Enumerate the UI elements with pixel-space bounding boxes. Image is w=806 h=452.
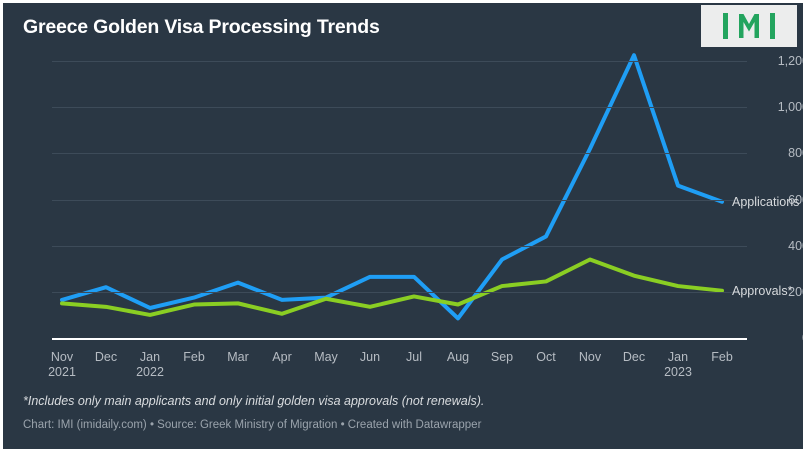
x-tick-month: Dec: [623, 350, 645, 364]
x-tick-month: Mar: [227, 350, 249, 364]
y-axis-tick-label: 1,200: [765, 54, 806, 68]
x-tick-year: 2022: [136, 365, 164, 380]
series-label-applications: Applications: [732, 195, 799, 209]
x-axis-tick-label: Dec: [95, 350, 117, 365]
x-axis-tick-label: Nov: [579, 350, 601, 365]
x-tick-month: Jun: [360, 350, 380, 364]
x-tick-month: Dec: [95, 350, 117, 364]
x-axis-tick-label: May: [314, 350, 338, 365]
x-axis-tick-label: Apr: [272, 350, 291, 365]
imi-logo: [701, 5, 797, 47]
x-axis-tick-label: Nov2021: [48, 350, 76, 379]
x-axis-tick-label: Jun: [360, 350, 380, 365]
y-axis-tick-label: 400: [765, 239, 806, 253]
x-tick-month: Nov: [51, 350, 73, 364]
x-tick-month: Jul: [406, 350, 422, 364]
logo-letter-m: [737, 13, 761, 39]
logo-bar-left: [723, 13, 728, 39]
x-tick-month: Oct: [536, 350, 555, 364]
x-tick-year: 2021: [48, 365, 76, 380]
chart-plot-area: 02004006008001,0001,200 ApplicationsAppr…: [3, 49, 806, 349]
x-tick-month: Jan: [140, 350, 160, 364]
gridline: [52, 153, 747, 154]
x-axis-tick-label: Aug: [447, 350, 469, 365]
gridline: [52, 107, 747, 108]
page-title: Greece Golden Visa Processing Trends: [23, 16, 380, 39]
x-axis-tick-label: Feb: [711, 350, 733, 365]
gridline: [52, 246, 747, 247]
logo-bar-right: [770, 13, 775, 39]
x-axis-tick-label: Mar: [227, 350, 249, 365]
x-tick-month: Feb: [711, 350, 733, 364]
x-tick-month: Feb: [183, 350, 205, 364]
chart-credit: Chart: IMI (imidaily.com) • Source: Gree…: [23, 419, 481, 431]
chart-card: Greece Golden Visa Processing Trends 020…: [0, 0, 806, 452]
x-tick-month: Nov: [579, 350, 601, 364]
x-tick-month: Sep: [491, 350, 513, 364]
gridline: [52, 292, 747, 293]
gridline: [52, 61, 747, 62]
x-tick-month: May: [314, 350, 338, 364]
series-label-approvals: Approvals*: [732, 284, 792, 298]
x-axis-tick-label: Dec: [623, 350, 645, 365]
y-axis-tick-label: 800: [765, 146, 806, 160]
x-axis-tick-label: Jan2022: [136, 350, 164, 379]
x-tick-month: Apr: [272, 350, 291, 364]
y-axis-tick-label: 0: [765, 331, 806, 345]
chart-footnote: *Includes only main applicants and only …: [23, 394, 484, 408]
x-axis-tick-label: Jan2023: [664, 350, 692, 379]
x-axis-labels: Nov2021DecJan2022FebMarAprMayJunJulAugSe…: [3, 350, 806, 386]
series-line-applications: [62, 55, 722, 318]
x-tick-month: Jan: [668, 350, 688, 364]
y-axis-tick-label: 1,000: [765, 100, 806, 114]
x-axis-line: [52, 338, 747, 340]
x-axis-tick-label: Jul: [406, 350, 422, 365]
gridline: [52, 200, 747, 201]
x-axis-tick-label: Oct: [536, 350, 555, 365]
x-tick-month: Aug: [447, 350, 469, 364]
x-axis-tick-label: Sep: [491, 350, 513, 365]
x-axis-tick-label: Feb: [183, 350, 205, 365]
x-tick-year: 2023: [664, 365, 692, 380]
